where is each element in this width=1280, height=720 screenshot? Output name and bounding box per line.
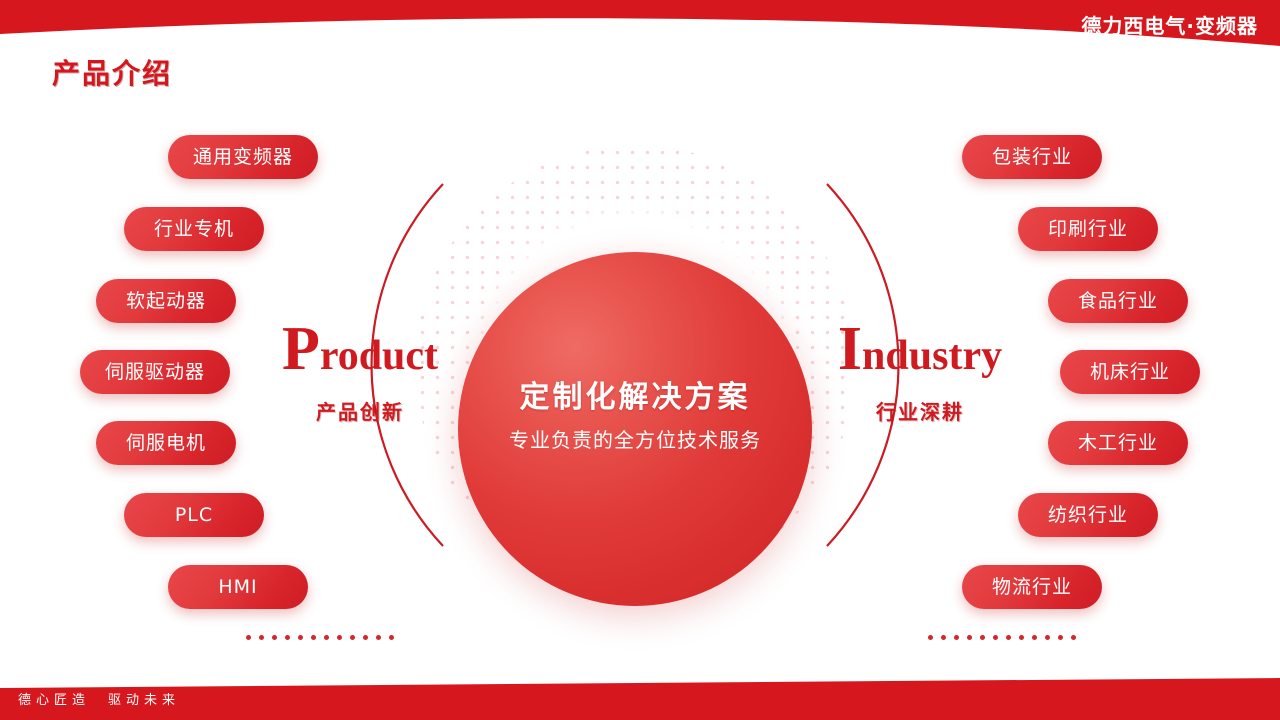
industry-heading-cn: 行业深耕 <box>818 396 1022 425</box>
center-subtitle: 专业负责的全方位技术服务 <box>509 424 761 453</box>
product-pill[interactable]: 行业专机 <box>124 207 264 251</box>
decor-dot <box>298 635 303 640</box>
footer-band <box>0 674 1280 720</box>
decor-dot <box>389 635 394 640</box>
decor-dot <box>993 635 998 640</box>
brand-logo-text: 德力西电气·变频器 <box>1081 10 1258 39</box>
industry-pill[interactable]: 物流行业 <box>962 565 1102 609</box>
industry-heading-en: Industry <box>818 318 1022 380</box>
decor-dot <box>1019 635 1024 640</box>
industry-heading: Industry 行业深耕 <box>818 318 1022 425</box>
product-heading: Product 产品创新 <box>258 318 462 425</box>
product-pill[interactable]: PLC <box>124 493 264 537</box>
decor-dot <box>980 635 985 640</box>
product-heading-capital: P <box>282 315 320 383</box>
decor-dot <box>967 635 972 640</box>
decor-dot <box>259 635 264 640</box>
industry-pill[interactable]: 包装行业 <box>962 135 1102 179</box>
decor-dot <box>1032 635 1037 640</box>
industry-heading-rest: ndustry <box>862 333 1002 379</box>
product-pill[interactable]: 伺服电机 <box>96 421 236 465</box>
industry-pill[interactable]: 食品行业 <box>1048 279 1188 323</box>
decor-dot-row-right <box>928 635 1076 640</box>
decor-dot <box>941 635 946 640</box>
diagram-stage: 定制化解决方案 专业负责的全方位技术服务 Product 产品创新 Indust… <box>0 0 1280 720</box>
decor-dot <box>311 635 316 640</box>
center-title: 定制化解决方案 <box>520 372 751 416</box>
product-pill[interactable]: HMI <box>168 565 308 609</box>
page-title: 产品介绍 <box>52 52 172 92</box>
decor-dot <box>350 635 355 640</box>
decor-dot <box>246 635 251 640</box>
product-heading-en: Product <box>258 318 462 380</box>
decor-dot <box>1071 635 1076 640</box>
decor-dot <box>324 635 329 640</box>
decor-dot <box>928 635 933 640</box>
decor-dot <box>954 635 959 640</box>
product-heading-cn: 产品创新 <box>258 396 462 425</box>
industry-pill[interactable]: 木工行业 <box>1048 421 1188 465</box>
decor-dot-row-left <box>246 635 394 640</box>
slide-root: 德力西电气·变频器 产品介绍 定制化解决方案 专业负责的全方位技术服务 Prod… <box>0 0 1280 720</box>
product-pill[interactable]: 伺服驱动器 <box>80 350 230 394</box>
decor-dot <box>1058 635 1063 640</box>
decor-dot <box>285 635 290 640</box>
product-pill[interactable]: 软起动器 <box>96 279 236 323</box>
decor-dot <box>1006 635 1011 640</box>
decor-dot <box>1045 635 1050 640</box>
decor-dot <box>272 635 277 640</box>
industry-pill[interactable]: 纺织行业 <box>1018 493 1158 537</box>
industry-pill[interactable]: 印刷行业 <box>1018 207 1158 251</box>
decor-dot <box>363 635 368 640</box>
industry-pill[interactable]: 机床行业 <box>1060 350 1200 394</box>
product-heading-rest: roduct <box>320 333 438 379</box>
center-circle: 定制化解决方案 专业负责的全方位技术服务 <box>458 252 812 606</box>
product-pill[interactable]: 通用变频器 <box>168 135 318 179</box>
industry-heading-capital: I <box>838 315 862 383</box>
footer-slogan: 德心匠造 驱动未来 <box>18 689 180 708</box>
decor-dot <box>337 635 342 640</box>
decor-dot <box>376 635 381 640</box>
